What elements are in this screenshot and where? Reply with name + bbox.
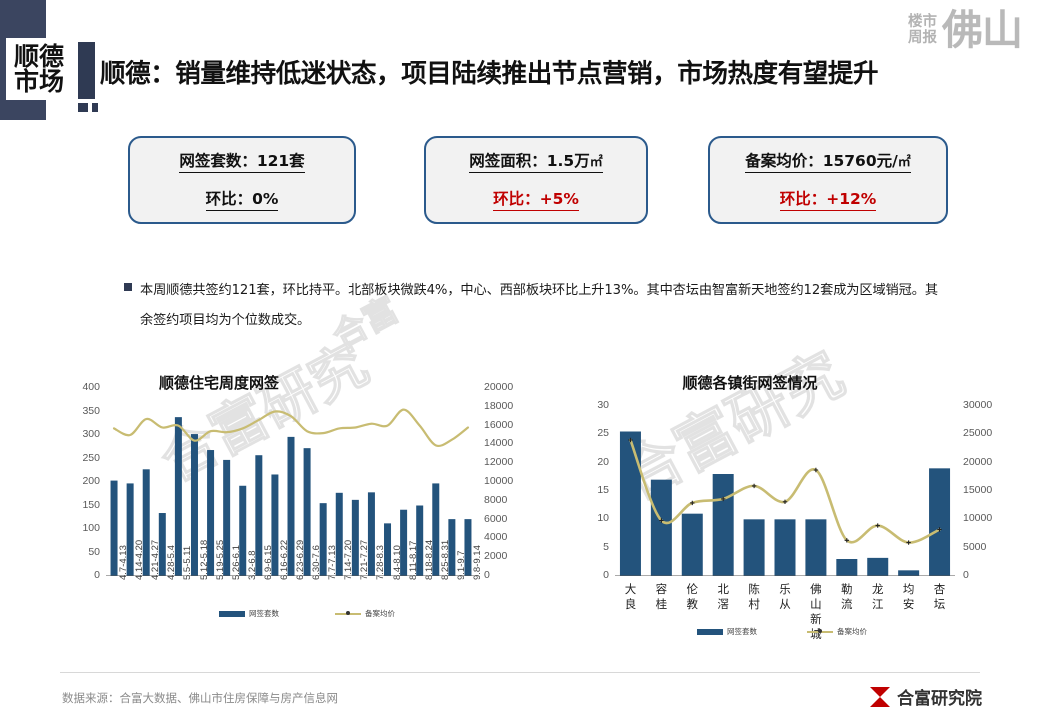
page-title: 顺德：销量维持低迷状态，项目陆续推出节点营销，市场热度有望提升 <box>100 52 930 96</box>
chart-shunde-weekly-residential: 顺德住宅周度网签 0501001502002503003504000200040… <box>44 360 524 650</box>
chart-left-legend: 网签套数 备案均价 <box>219 608 395 619</box>
x-axis-tick: 8.11-8.17 <box>408 541 419 580</box>
y2-axis-tick: 8000 <box>484 494 538 506</box>
x-axis-tick: 4.28-5.4 <box>166 545 177 580</box>
x-axis-tick: 7.7-7.13 <box>327 545 338 580</box>
company-logo-text: 合富研究院 <box>897 684 982 709</box>
y2-axis-tick: 25000 <box>963 427 1017 439</box>
x-axis-tick: 6.23-6.29 <box>295 540 306 580</box>
bullet-square-icon <box>124 283 132 291</box>
legend-bar-swatch-icon <box>697 629 723 635</box>
publication-logo-line1: 楼市 <box>908 15 937 31</box>
kpi-area-unit: ㎡ <box>590 155 603 170</box>
x-axis-tick: 7.28-8.3 <box>375 545 386 580</box>
y-axis-tick: 5 <box>567 541 609 553</box>
x-axis-tick: 伦教 <box>684 582 700 612</box>
y2-axis-tick: 10000 <box>963 512 1017 524</box>
y2-axis-tick: 0 <box>484 569 538 581</box>
chart-shunde-town-netsign: 顺德各镇街网签情况 051015202530050001000015000200… <box>540 360 1032 650</box>
kpi-price-value: 备案均价：15760元/㎡ <box>745 149 911 173</box>
kpi-area-value: 网签面积：1.5万㎡ <box>469 149 602 173</box>
x-axis-tick: 4.21-4.27 <box>150 540 161 580</box>
x-axis-tick: 5.19-5.25 <box>215 540 226 580</box>
publication-logo-subtext: 楼市 周报 <box>908 13 937 46</box>
x-axis-tick: 6.9-6.15 <box>263 545 274 580</box>
y-axis-tick: 150 <box>58 499 100 511</box>
x-axis-tick: 4.7-4.13 <box>118 545 129 580</box>
chart-right-title: 顺德各镇街网签情况 <box>540 372 960 393</box>
kpi-card-net-sign-area: 网签面积：1.5万㎡ 环比：+5% <box>424 136 648 224</box>
y2-axis-tick: 15000 <box>963 484 1017 496</box>
y-axis-tick: 0 <box>58 569 100 581</box>
y-axis-tick: 15 <box>567 484 609 496</box>
kpi-units-change: 环比：0% <box>206 187 279 211</box>
y2-axis-tick: 5000 <box>963 541 1017 553</box>
y2-axis-tick: 16000 <box>484 419 538 431</box>
y-axis-tick: 25 <box>567 427 609 439</box>
y2-axis-tick: 0 <box>963 569 1017 581</box>
x-axis-tick: 5.5-5.11 <box>182 546 193 580</box>
y2-axis-tick: 20000 <box>963 456 1017 468</box>
x-axis-tick: 乐从 <box>777 582 793 612</box>
section-badge: 顺德 市场 <box>6 38 72 100</box>
legend-line-label: 备案均价 <box>837 626 867 637</box>
kpi-area-change: 环比：+5% <box>493 187 579 211</box>
x-axis-tick: 6.16-6.22 <box>279 540 290 580</box>
x-axis-tick: 北滘 <box>715 582 731 612</box>
y-axis-tick: 250 <box>58 452 100 464</box>
x-axis-tick: 5.26-6.1 <box>231 545 242 580</box>
x-axis-tick: 均安 <box>901 582 917 612</box>
kpi-price-unit: ㎡ <box>898 155 911 170</box>
publication-logo-city: 佛山 <box>942 10 1022 51</box>
x-axis-tick: 8.25-8.31 <box>440 540 451 580</box>
section-badge-line1: 顺德 <box>14 44 64 70</box>
y-axis-tick: 350 <box>58 405 100 417</box>
legend-line-swatch-icon <box>807 631 833 633</box>
y2-axis-tick: 12000 <box>484 456 538 468</box>
chart-right-legend: 网签套数 备案均价 <box>697 626 867 637</box>
summary-text: 本周顺德共签约121套，环比持平。北部板块微跌4%，中心、西部板块环比上升13%… <box>140 276 944 336</box>
y-axis-tick: 20 <box>567 456 609 468</box>
header-accent-dot-small <box>92 103 98 112</box>
x-axis-tick: 勒流 <box>839 582 855 612</box>
footer-source-text: 数据来源：合富大数据、佛山市住房保障与房产信息网 <box>62 690 338 706</box>
header-accent-bar <box>78 42 95 99</box>
kpi-price-change: 环比：+12% <box>780 187 877 211</box>
y-axis-tick: 200 <box>58 475 100 487</box>
summary-bullet: 本周顺德共签约121套，环比持平。北部板块微跌4%，中心、西部板块环比上升13%… <box>124 276 944 336</box>
company-mark-icon <box>870 687 890 707</box>
page-footer: 数据来源：合富大数据、佛山市住房保障与房产信息网 合富研究院 <box>0 672 1040 720</box>
kpi-card-filing-avg-price: 备案均价：15760元/㎡ 环比：+12% <box>708 136 948 224</box>
x-axis-tick: 8.18-8.24 <box>424 540 435 580</box>
x-axis-tick: 杏坛 <box>932 582 948 612</box>
legend-line-label: 备案均价 <box>365 608 395 619</box>
legend-bar-label: 网签套数 <box>727 626 757 637</box>
x-axis-tick: 7.14-7.20 <box>343 540 354 580</box>
kpi-card-net-sign-units: 网签套数：121套 环比：0% <box>128 136 356 224</box>
y-axis-tick: 0 <box>567 569 609 581</box>
legend-line-swatch-icon <box>335 613 361 615</box>
chart-left-plot-area <box>106 388 476 576</box>
x-axis-tick: 8.4-8.10 <box>392 545 403 580</box>
y-axis-tick: 300 <box>58 428 100 440</box>
publication-logo-line2: 周报 <box>908 31 937 47</box>
legend-bar-swatch-icon <box>219 611 245 617</box>
y2-axis-tick: 30000 <box>963 399 1017 411</box>
x-axis-tick: 大良 <box>623 582 639 612</box>
kpi-area-value-text: 网签面积：1.5万 <box>469 152 589 170</box>
x-axis-tick: 4.14-4.20 <box>134 540 145 580</box>
company-logo: 合富研究院 <box>870 684 982 709</box>
x-axis-tick: 7.21-7.27 <box>359 540 370 580</box>
y-axis-tick: 30 <box>567 399 609 411</box>
x-axis-tick: 9.1-9.7 <box>456 550 467 580</box>
y2-axis-tick: 6000 <box>484 513 538 525</box>
x-axis-tick: 5.12-5.18 <box>199 540 210 580</box>
y-axis-tick: 100 <box>58 522 100 534</box>
y2-axis-tick: 14000 <box>484 437 538 449</box>
publication-logo: 楼市 周报 佛山 <box>908 6 1022 54</box>
kpi-units-value: 网签套数：121套 <box>179 149 304 173</box>
kpi-price-value-text: 备案均价：15760元/ <box>745 152 898 170</box>
x-axis-tick: 9.8-9.14 <box>472 545 483 580</box>
y-axis-tick: 10 <box>567 512 609 524</box>
y-axis-tick: 400 <box>58 381 100 393</box>
y2-axis-tick: 18000 <box>484 400 538 412</box>
x-axis-tick: 6.30-7.6 <box>311 545 322 580</box>
kpi-card-row: 网签套数：121套 环比：0% 网签面积：1.5万㎡ 环比：+5% 备案均价：1… <box>0 136 1040 236</box>
y-axis-tick: 50 <box>58 546 100 558</box>
page-header: 顺德 市场 顺德：销量维持低迷状态，项目陆续推出节点营销，市场热度有望提升 楼市… <box>0 0 1040 128</box>
footer-divider <box>60 672 980 673</box>
chart-right-plot-area <box>615 406 955 576</box>
y2-axis-tick: 10000 <box>484 475 538 487</box>
section-badge-line2: 市场 <box>14 69 64 95</box>
x-axis-tick: 容桂 <box>653 582 669 612</box>
x-axis-tick: 3.2-6.8 <box>247 550 258 580</box>
header-accent-dot-large <box>78 103 88 112</box>
x-axis-tick: 龙江 <box>870 582 886 612</box>
legend-bar-label: 网签套数 <box>249 608 279 619</box>
y2-axis-tick: 20000 <box>484 381 538 393</box>
y2-axis-tick: 4000 <box>484 531 538 543</box>
x-axis-tick: 陈村 <box>746 582 762 612</box>
y2-axis-tick: 2000 <box>484 550 538 562</box>
